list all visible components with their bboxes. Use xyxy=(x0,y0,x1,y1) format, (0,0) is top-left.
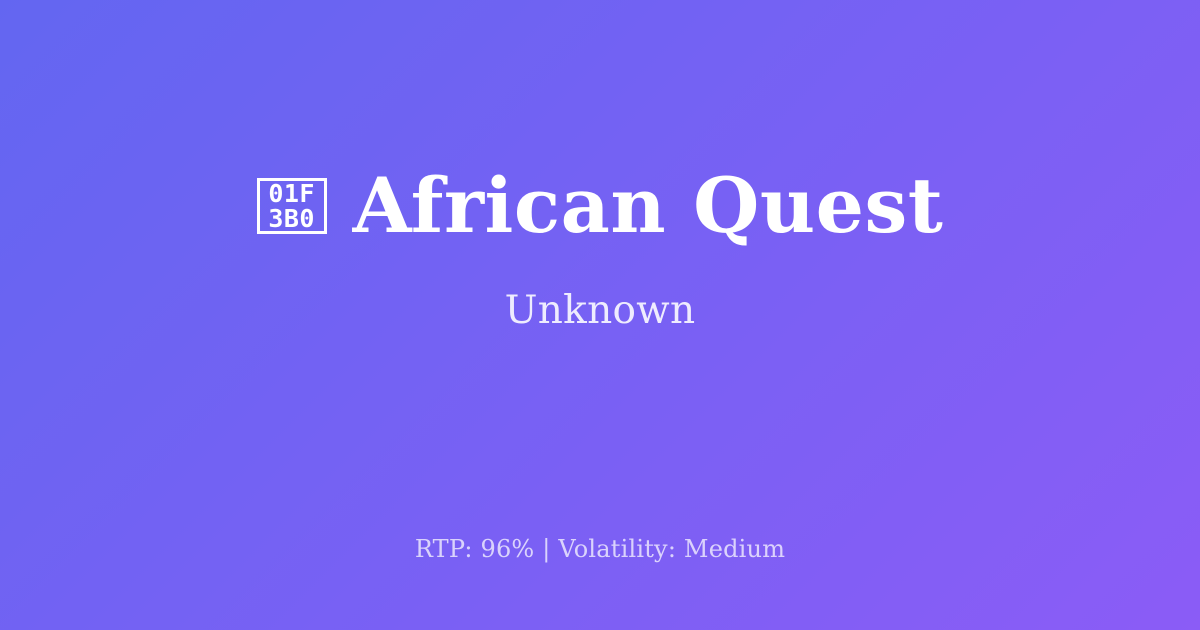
title-row: 01F 3B0 African Quest xyxy=(257,167,944,245)
stats-bar: RTP: 96% | Volatility: Medium xyxy=(0,535,1200,564)
hero-block: 01F 3B0 African Quest Unknown xyxy=(0,0,1200,500)
slot-machine-icon: 01F 3B0 xyxy=(257,178,327,234)
game-provider: Unknown xyxy=(505,290,696,333)
codepoint-bottom: 3B0 xyxy=(268,206,315,231)
codepoint-top: 01F xyxy=(268,181,315,206)
game-stats-line: RTP: 96% | Volatility: Medium xyxy=(415,535,785,564)
game-title: African Quest xyxy=(353,167,944,245)
game-og-card: 01F 3B0 African Quest Unknown RTP: 96% |… xyxy=(0,0,1200,630)
